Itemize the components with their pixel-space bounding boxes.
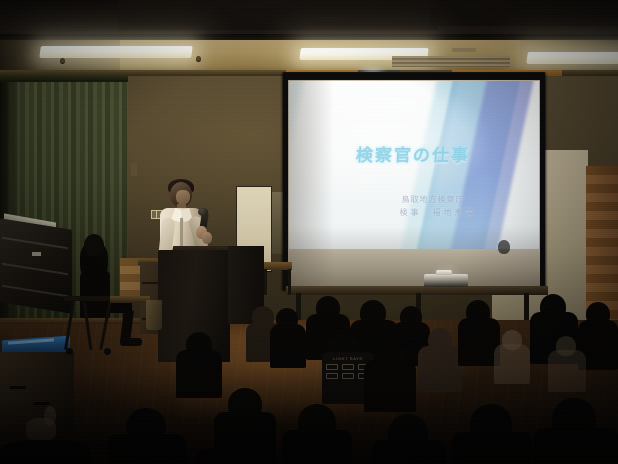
shirt-print-text: LIGHT RAYS bbox=[326, 356, 370, 361]
chair-caster bbox=[104, 348, 111, 355]
vent-tab bbox=[452, 48, 476, 52]
shirt-icon bbox=[342, 364, 354, 370]
photo-scene: 検察官の仕事 鳥取地方検察庁 検事 福地恵美 bbox=[0, 0, 618, 464]
projector bbox=[424, 274, 468, 287]
projected-slide: 検察官の仕事 鳥取地方検察庁 検事 福地恵美 bbox=[289, 81, 539, 249]
audience-body bbox=[270, 324, 306, 368]
shirt-icon bbox=[326, 364, 338, 370]
audience-body bbox=[108, 434, 186, 464]
presenter-hand bbox=[202, 232, 212, 244]
folding-chair bbox=[64, 296, 116, 354]
audience-body bbox=[364, 360, 416, 412]
presenter-face bbox=[176, 190, 190, 205]
air-vent-grille bbox=[392, 56, 510, 67]
ceiling-panel bbox=[118, 0, 438, 30]
audience-head bbox=[0, 440, 90, 464]
audience-body bbox=[418, 346, 462, 392]
box-handle-slot bbox=[10, 386, 26, 389]
audience-body bbox=[282, 430, 352, 464]
audience-body bbox=[534, 428, 618, 464]
curtain-rail bbox=[0, 76, 128, 82]
switch-rocker bbox=[152, 211, 156, 218]
audience-hand bbox=[44, 406, 56, 426]
chair-leg bbox=[99, 300, 111, 350]
fluorescent-light-icon bbox=[39, 46, 192, 58]
chair-leg bbox=[64, 300, 75, 350]
seated-attendant bbox=[78, 234, 112, 304]
attendant-foot bbox=[120, 338, 142, 346]
audience-body bbox=[548, 350, 586, 392]
beam-bolt bbox=[60, 58, 65, 63]
case-latch bbox=[32, 252, 41, 256]
beam-bolt bbox=[196, 56, 201, 61]
slide-subtitle: 鳥取地方検察庁 検事 福地恵美 bbox=[359, 193, 507, 219]
chair-leg bbox=[83, 300, 93, 350]
bench-leg bbox=[288, 269, 291, 295]
shirt-icon bbox=[326, 373, 338, 379]
projection-screen-surface: 検察官の仕事 鳥取地方検察庁 検事 福地恵美 bbox=[288, 80, 540, 286]
chair-caster bbox=[66, 348, 73, 355]
side-table bbox=[110, 296, 150, 303]
shirt-icon bbox=[342, 373, 354, 379]
audience-body bbox=[176, 350, 222, 398]
audience-body bbox=[494, 344, 530, 384]
audience-head bbox=[196, 448, 276, 464]
audience-head bbox=[498, 240, 510, 254]
fluorescent-light-icon bbox=[526, 52, 618, 64]
bench-leg bbox=[264, 269, 267, 295]
slide-title: 検察官の仕事 bbox=[332, 141, 493, 166]
screen-unlit-area bbox=[288, 249, 540, 286]
projector-top-cover bbox=[436, 270, 452, 275]
audience-body bbox=[372, 440, 446, 464]
box-handle-slot bbox=[34, 402, 50, 405]
ceiling-panel bbox=[430, 0, 618, 26]
audience-body bbox=[452, 432, 532, 464]
attendant-head bbox=[84, 234, 104, 256]
bucket bbox=[146, 300, 162, 330]
wall-fixture bbox=[131, 163, 137, 176]
slide-subtitle-line-2: 検事 福地恵美 bbox=[359, 206, 507, 219]
microphone-head-icon bbox=[198, 208, 208, 216]
slide-subtitle-line-1: 鳥取地方検察庁 bbox=[359, 193, 507, 206]
